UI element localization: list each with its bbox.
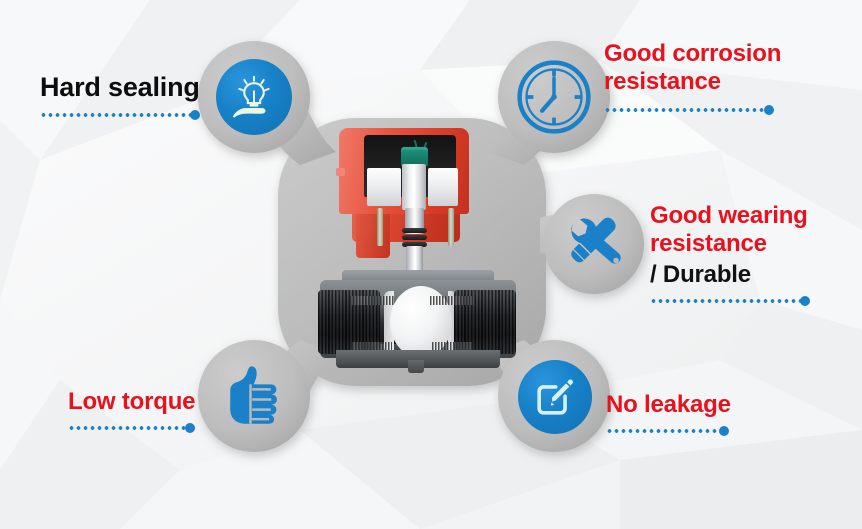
section-hatch-1 — [350, 296, 394, 305]
connector-dots-good-wearing-resistance — [650, 296, 862, 306]
connector-dots-good-corrosion-resistance — [604, 105, 844, 115]
feature-label-good-wearing-resistance-text: Good wearing resistance — [650, 202, 862, 259]
dotted-line — [40, 113, 195, 117]
valve-bottom-stub — [408, 360, 424, 373]
actuator-tab — [336, 168, 345, 176]
product-image-motorized-ball-valve — [312, 128, 522, 373]
dotted-line — [650, 299, 805, 303]
wrench-screwdriver-icon — [558, 208, 632, 282]
feature-label-good-wearing-resistance: Good wearing resistance / Durable — [650, 202, 862, 306]
dot-terminator — [185, 423, 195, 433]
edit-pencil-square-icon — [518, 360, 592, 434]
connector-dots-hard-sealing — [40, 110, 220, 120]
feature-label-hard-sealing-text: Hard sealing — [40, 72, 220, 104]
o-ring-2 — [402, 235, 427, 240]
connector-dots-low-torque — [68, 423, 238, 433]
section-hatch-2 — [430, 296, 474, 305]
lightbulb-hand-glyph — [228, 71, 280, 123]
dot-terminator — [190, 110, 200, 120]
actuator-module-right — [428, 168, 458, 206]
feature-icon-hard-sealing[interactable] — [210, 53, 298, 141]
stem-upper — [402, 164, 426, 210]
feature-label-hard-sealing: Hard sealing — [40, 72, 220, 120]
connector-dots-no-leakage — [606, 426, 786, 436]
feature-label-low-torque-text: Low torque — [68, 388, 238, 416]
feature-icon-good-corrosion-resistance[interactable] — [512, 55, 596, 139]
o-ring-1 — [402, 228, 427, 233]
dotted-line — [68, 426, 190, 430]
dotted-line — [606, 429, 724, 433]
dotted-line — [604, 108, 769, 112]
dot-terminator — [764, 105, 774, 115]
bolt-left — [377, 208, 383, 246]
feature-label-no-leakage-text: No leakage — [606, 391, 786, 419]
bolt-right — [448, 208, 454, 246]
feature-label-low-torque: Low torque — [68, 388, 238, 433]
feature-label-no-leakage: No leakage — [606, 391, 786, 436]
dot-terminator — [800, 296, 810, 306]
feature-sublabel-durable-text: / Durable — [650, 261, 862, 289]
feature-label-good-corrosion-resistance-text: Good corrosion resistance — [604, 40, 844, 97]
dot-terminator — [719, 426, 729, 436]
infographic-canvas: Hard sealing Good corrosion resistance G… — [0, 0, 862, 529]
feature-label-good-corrosion-resistance: Good corrosion resistance — [604, 40, 844, 115]
lightbulb-hand-icon — [216, 59, 292, 135]
actuator-module-left — [367, 168, 401, 206]
feature-icon-good-wearing-resistance[interactable] — [556, 206, 634, 284]
clock-icon — [514, 57, 594, 137]
edit-pencil-square-glyph — [532, 374, 578, 420]
feature-icon-no-leakage[interactable] — [512, 354, 598, 440]
